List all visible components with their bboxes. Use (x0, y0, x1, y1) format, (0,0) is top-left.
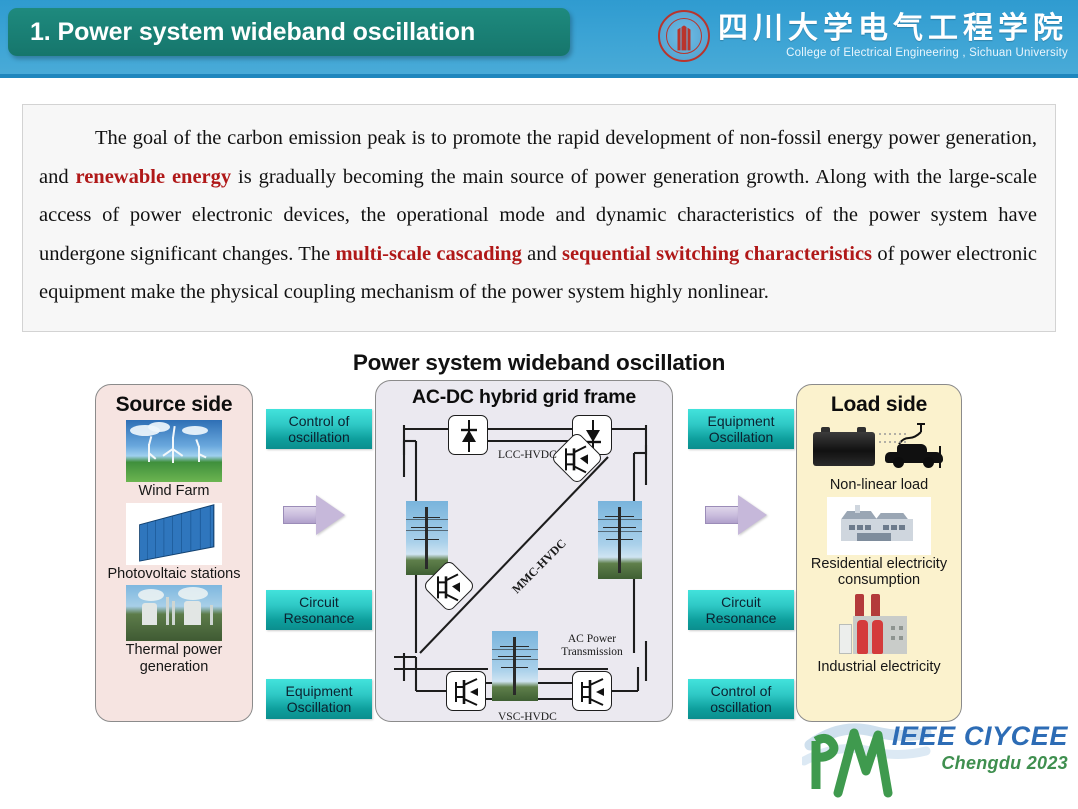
conference-logo-text: IEEE CIYCEE Chengdu 2023 (892, 721, 1068, 774)
header-underline (0, 74, 1078, 78)
transmission-tower-photo-right (598, 501, 642, 579)
right-chip-control-of-oscillation[interactable]: Control of oscillation (688, 679, 794, 719)
left-chip-equipment-oscillation[interactable]: Equipment Oscillation (266, 679, 372, 719)
source-side-panel: Source side Wind Farm (95, 384, 253, 722)
source-item-thermal: Thermal power generation (96, 585, 252, 675)
load-item-residential-caption: Residential electricity consumption (797, 556, 961, 589)
transmission-tower-photo-left (406, 501, 448, 575)
university-name-cn: 四川大学电气工程学院 (718, 13, 1068, 45)
battery-ev-photo-icon (809, 420, 949, 476)
highlight-renewable-energy: renewable energy (75, 166, 231, 188)
intro-text-card: The goal of the carbon emission peak is … (22, 104, 1056, 332)
label-ac-power-transmission: AC Power Transmission (552, 633, 632, 659)
university-name-en: College of Electrical Engineering , Sich… (786, 47, 1068, 59)
transmission-tower-photo-center (492, 631, 538, 701)
load-item-industrial-caption: Industrial electricity (797, 659, 961, 676)
source-item-pv: Photovoltaic stations (96, 503, 252, 583)
left-chip-control-of-oscillation[interactable]: Control of oscillation (266, 409, 372, 449)
left-chip-2-label: Circuit Resonance (266, 594, 372, 626)
right-chip-2-label: Circuit Resonance (688, 594, 794, 626)
right-chip-3-label: Control of oscillation (688, 683, 794, 715)
intro-paragraph: The goal of the carbon emission peak is … (39, 119, 1037, 312)
right-chip-circuit-resonance[interactable]: Circuit Resonance (688, 590, 794, 630)
paragraph-segment-3: and (522, 243, 562, 265)
bottom-strip (0, 803, 1078, 809)
label-lcc-hvdc: LCC-HVDC (498, 449, 557, 461)
center-grid-panel: AC-DC hybrid grid frame (375, 380, 673, 722)
slide: 1. Power system wideband oscillation 四川大… (0, 0, 1078, 809)
university-logo-text: 四川大学电气工程学院 College of Electrical Enginee… (718, 13, 1068, 58)
right-chip-equipment-oscillation[interactable]: Equipment Oscillation (688, 409, 794, 449)
highlight-multi-scale-cascading: multi-scale cascading (335, 243, 521, 265)
label-ac-power-transmission-text: AC Power Transmission (561, 633, 623, 658)
university-logo: 四川大学电气工程学院 College of Electrical Enginee… (658, 4, 1068, 68)
left-chip-3-label: Equipment Oscillation (266, 683, 372, 715)
igbt-valve-left (446, 671, 486, 711)
conference-logo: IEEE CIYCEE Chengdu 2023 (796, 709, 1072, 805)
right-flow-arrow (705, 495, 767, 535)
load-item-nonlinear-caption: Non-linear load (797, 477, 961, 494)
igbt-valve-right (572, 671, 612, 711)
slide-header: 1. Power system wideband oscillation 四川大… (0, 0, 1078, 77)
label-vsc-hvdc: VSC-HVDC (498, 711, 557, 723)
source-item-wind-caption: Wind Farm (96, 483, 252, 500)
conference-name: IEEE CIYCEE (892, 721, 1068, 752)
left-flow-arrow (283, 495, 345, 535)
diagram-title: Power system wideband oscillation (0, 350, 1078, 376)
university-seal-icon (658, 10, 710, 62)
source-item-pv-caption: Photovoltaic stations (96, 566, 252, 583)
load-item-nonlinear: Non-linear load (797, 420, 961, 494)
section-title-text: 1. Power system wideband oscillation (8, 18, 475, 47)
right-chip-1-label: Equipment Oscillation (688, 413, 794, 445)
solar-panel-photo-icon (126, 503, 222, 565)
house-photo-icon (827, 497, 931, 555)
factory-photo-icon (827, 592, 931, 658)
source-item-wind: Wind Farm (96, 420, 252, 500)
source-panel-heading: Source side (96, 393, 252, 417)
thyristor-valve-left (448, 415, 488, 455)
highlight-sequential-switching: sequential switching characteristics (562, 243, 872, 265)
thermal-plant-photo-icon (126, 585, 222, 641)
left-chip-circuit-resonance[interactable]: Circuit Resonance (266, 590, 372, 630)
left-chip-1-label: Control of oscillation (266, 413, 372, 445)
load-item-industrial: Industrial electricity (797, 592, 961, 676)
section-title-pill: 1. Power system wideband oscillation (8, 8, 570, 56)
load-panel-heading: Load side (797, 393, 961, 417)
wind-turbine-photo-icon (126, 420, 222, 482)
load-side-panel: Load side Non-linear load (796, 384, 962, 722)
conference-location-year: Chengdu 2023 (892, 753, 1068, 774)
source-item-thermal-caption: Thermal power generation (96, 642, 252, 675)
load-item-residential: Residential electricity consumption (797, 497, 961, 589)
